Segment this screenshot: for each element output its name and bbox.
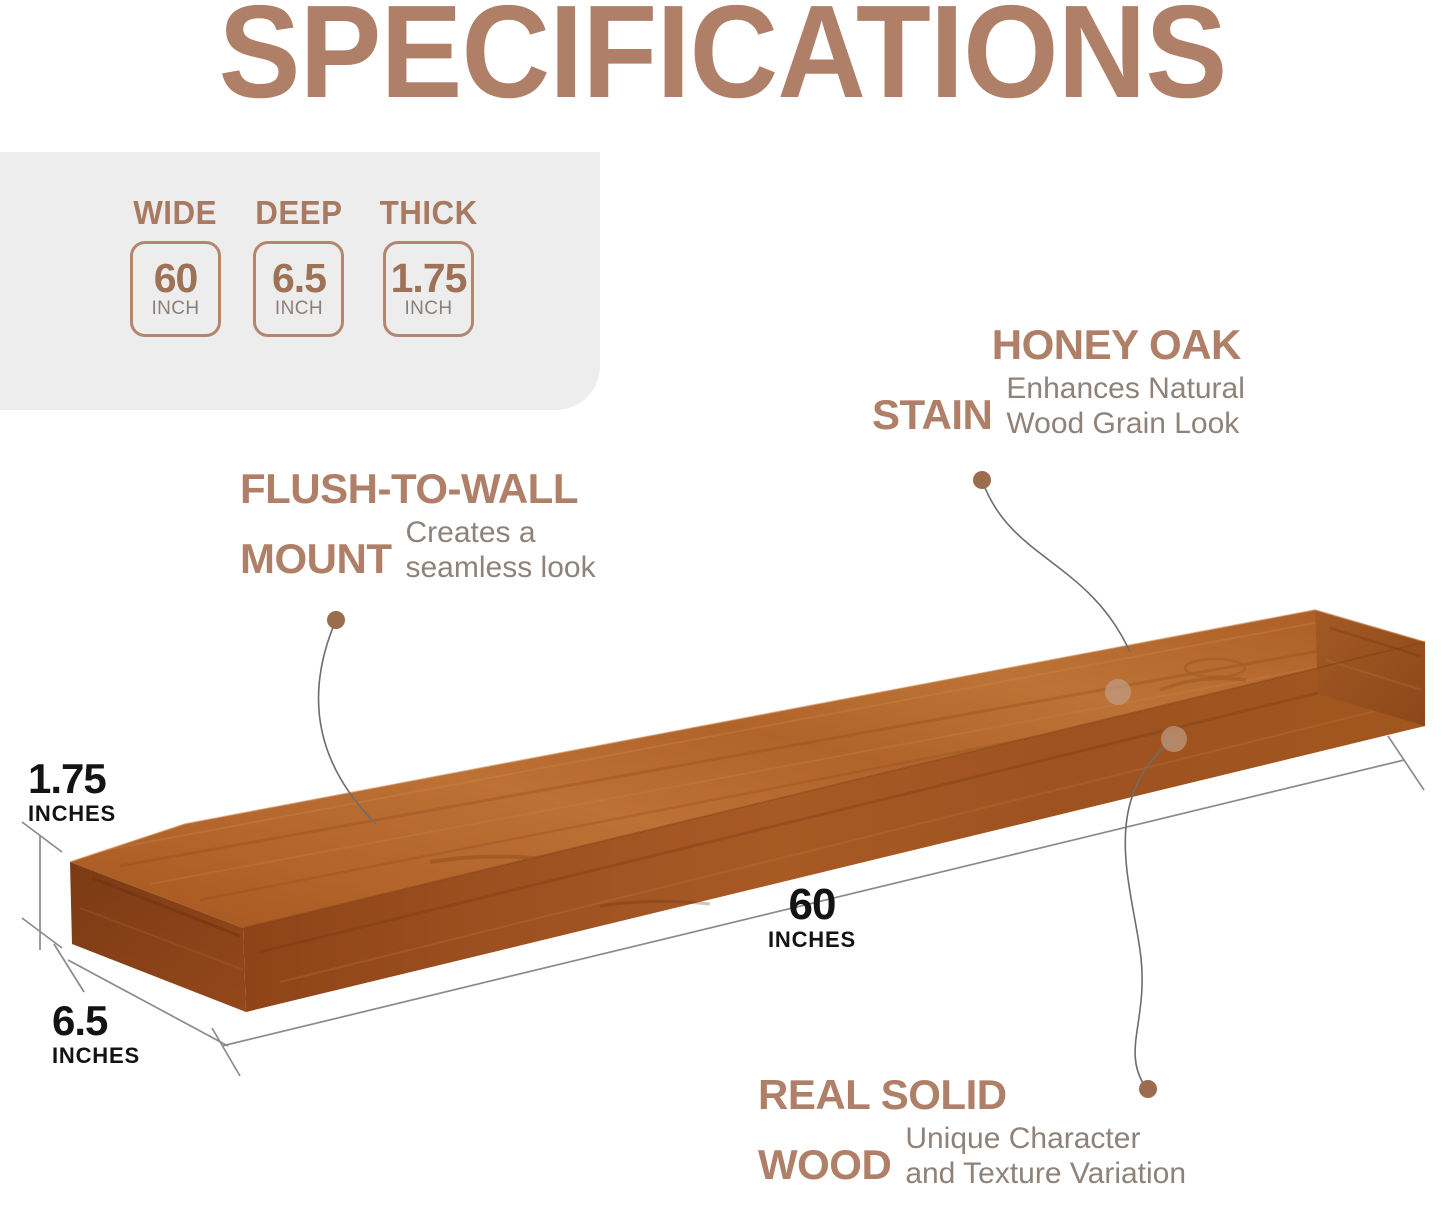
dimension-value: 60 [768,884,856,926]
dimension-unit: INCHES [28,802,116,826]
leader-anchor-real-wood [1161,726,1187,752]
leader-anchor-honey-oak [1105,679,1131,705]
callout-heading-line: WOOD [758,1142,891,1187]
infographic-canvas: SPECIFICATIONS WIDE 60 INCH DEEP 6.5 INC… [0,0,1445,1212]
callout-description-line: Creates a [405,515,595,550]
callout-heading-line: FLUSH-TO-WALL [240,466,596,511]
product-illustration [0,0,1445,1212]
callout-description-line: Unique Character [905,1121,1186,1156]
callout-heading-line: STAIN [872,392,992,437]
leader-dot-honey-oak [973,471,991,489]
callout-real-solid-wood: REAL SOLID WOOD Unique Character and Tex… [758,1072,1186,1187]
callout-description-line: and Texture Variation [905,1156,1186,1191]
dimension-label-thickness: 1.75 INCHES [28,758,116,826]
callout-honey-oak-stain: HONEY OAK STAIN Enhances Natural Wood Gr… [872,322,1245,437]
dimension-value: 1.75 [28,758,116,800]
callout-heading-line: REAL SOLID [758,1072,1186,1117]
dimension-label-width: 60 INCHES [768,884,856,952]
callout-description-line: seamless look [405,550,595,585]
callout-description-line: Enhances Natural [1006,371,1244,406]
dimension-unit: INCHES [52,1044,140,1068]
leader-dot-flush-mount [327,611,345,629]
callout-heading-line: MOUNT [240,536,391,581]
dimension-value: 6.5 [52,1000,140,1042]
callout-flush-to-wall-mount: FLUSH-TO-WALL MOUNT Creates a seamless l… [240,466,596,581]
dimension-label-depth: 6.5 INCHES [52,1000,140,1068]
leader-line-honey-oak [982,480,1130,652]
callout-heading-line: HONEY OAK [872,322,1245,367]
dimension-unit: INCHES [768,928,856,952]
wood-board [70,610,1425,1012]
callout-description-line: Wood Grain Look [1006,406,1244,441]
